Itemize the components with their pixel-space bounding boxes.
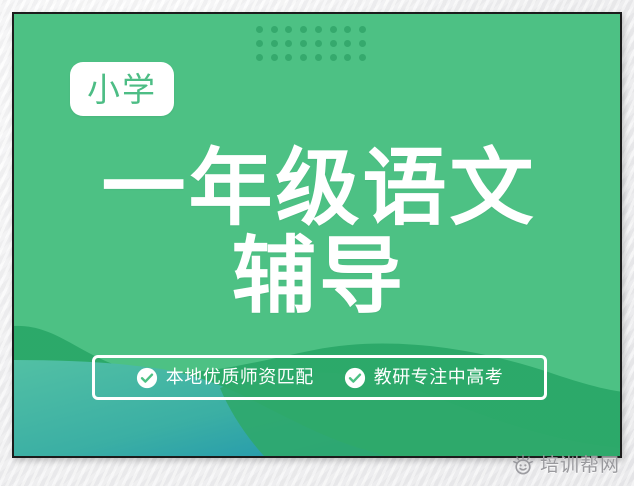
grid-dot bbox=[300, 26, 307, 33]
grid-dot bbox=[344, 54, 351, 61]
grid-dot bbox=[315, 54, 322, 61]
grid-dot bbox=[330, 26, 337, 33]
grid-dot bbox=[271, 26, 278, 33]
site-watermark: 培训帮网 bbox=[506, 450, 628, 480]
grid-dot bbox=[315, 26, 322, 33]
feature-label-1: 本地优质师资匹配 bbox=[166, 368, 314, 388]
grid-dot bbox=[344, 26, 351, 33]
check-circle-icon bbox=[344, 367, 366, 389]
poster-page: 小学 一年级语文 辅导 本地优质师资匹配 教研专注中高考 bbox=[0, 0, 634, 486]
dot-grid-decoration bbox=[252, 22, 370, 64]
poster-headline: 一年级语文 辅导 bbox=[14, 142, 622, 322]
watermark-label: 培训帮网 bbox=[540, 454, 620, 476]
grid-dot bbox=[285, 54, 292, 61]
grid-dot bbox=[271, 54, 278, 61]
grid-dot bbox=[300, 54, 307, 61]
grid-dot bbox=[271, 40, 278, 47]
headline-line-2: 辅导 bbox=[14, 230, 622, 322]
grid-dot bbox=[300, 40, 307, 47]
feature-bar: 本地优质师资匹配 教研专注中高考 bbox=[92, 355, 547, 400]
feature-item-2: 教研专注中高考 bbox=[344, 367, 504, 389]
grid-dot bbox=[285, 26, 292, 33]
grid-dot bbox=[359, 26, 366, 33]
grid-dot bbox=[256, 40, 263, 47]
grade-level-badge-label: 小学 bbox=[87, 73, 157, 106]
poster-card: 小学 一年级语文 辅导 本地优质师资匹配 教研专注中高考 bbox=[12, 12, 622, 458]
grade-level-badge: 小学 bbox=[70, 62, 174, 116]
feature-label-2: 教研专注中高考 bbox=[374, 368, 504, 388]
grid-dot bbox=[344, 40, 351, 47]
grid-dot bbox=[359, 40, 366, 47]
check-circle-icon bbox=[136, 367, 158, 389]
grid-dot bbox=[256, 26, 263, 33]
feature-item-1: 本地优质师资匹配 bbox=[136, 367, 314, 389]
sun-smiley-icon bbox=[512, 454, 534, 476]
grid-dot bbox=[285, 40, 292, 47]
grid-dot bbox=[359, 54, 366, 61]
grid-dot bbox=[256, 54, 263, 61]
grid-dot bbox=[315, 40, 322, 47]
grid-dot bbox=[330, 40, 337, 47]
headline-line-1: 一年级语文 bbox=[14, 142, 622, 234]
grid-dot bbox=[330, 54, 337, 61]
